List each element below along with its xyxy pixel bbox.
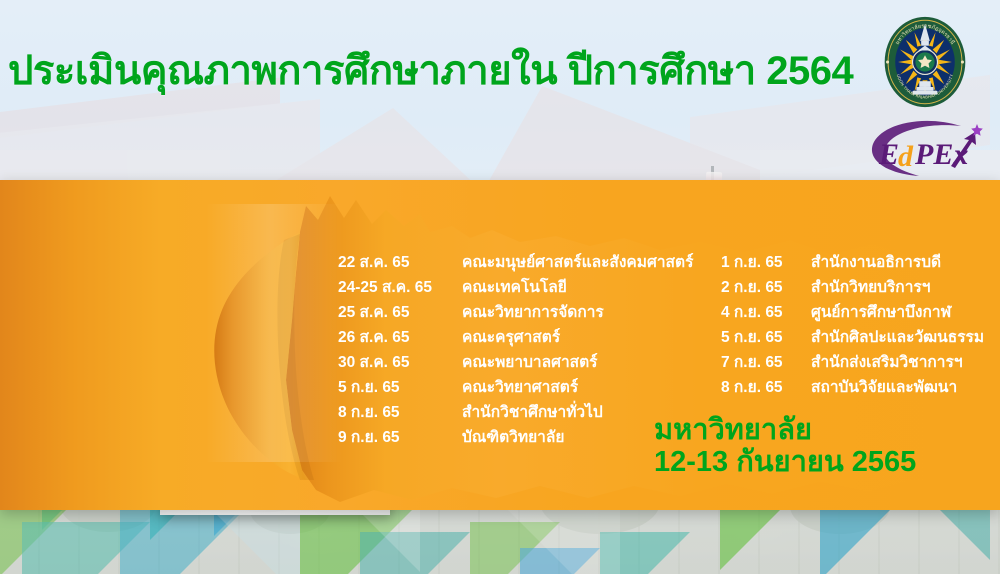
schedule-unit: สำนักวิชาศึกษาทั่วไป [462, 400, 603, 425]
schedule-date: 2 ก.ย. 65 [721, 275, 811, 300]
schedule-date: 25 ส.ค. 65 [338, 300, 462, 325]
schedule-unit: สำนักศิลปะและวัฒนธรรม [811, 325, 984, 350]
schedule-date: 24-25 ส.ค. 65 [338, 275, 462, 300]
event-date-line2: 12-13 กันยายน 2565 [654, 446, 916, 478]
schedule-unit: สำนักงานอธิการบดี [811, 250, 941, 275]
edpex-logo: E d PEx [865, 118, 985, 180]
banner-canvas: ประเมินคุณภาพการศึกษาภายใน ปีการศึกษา 25… [0, 0, 1000, 574]
schedule-unit: คณะครุศาสตร์ [462, 325, 560, 350]
schedule-date: 22 ส.ค. 65 [338, 250, 462, 275]
schedule-row: 1 ก.ย. 65 สำนักงานอธิการบดี [721, 250, 984, 275]
schedule-unit: ศูนย์การศึกษาบึงกาฬ [811, 300, 951, 325]
schedule-date: 9 ก.ย. 65 [338, 425, 462, 450]
page-title: ประเมินคุณภาพการศึกษาภายใน ปีการศึกษา 25… [8, 38, 853, 102]
edpex-text-d: d [898, 140, 914, 173]
schedule-date: 4 ก.ย. 65 [721, 300, 811, 325]
schedule-date: 5 ก.ย. 65 [338, 375, 462, 400]
schedule-unit: คณะวิทยาการจัดการ [462, 300, 604, 325]
schedule-row: 9 ก.ย. 65 บัณฑิตวิทยาลัย [338, 425, 693, 450]
schedule-date: 30 ส.ค. 65 [338, 350, 462, 375]
event-date-line1: มหาวิทยาลัย [654, 414, 812, 446]
schedule-unit: คณะพยาบาลศาสตร์ [462, 350, 598, 375]
edpex-text-pex: PEx [914, 138, 968, 171]
schedule-row: 8 ก.ย. 65 สถาบันวิจัยและพัฒนา [721, 375, 984, 400]
schedule-date: 1 ก.ย. 65 [721, 250, 811, 275]
schedule-unit: คณะเทคโนโลยี [462, 275, 567, 300]
schedule-date: 8 ก.ย. 65 [721, 375, 811, 400]
schedule-date: 8 ก.ย. 65 [338, 400, 462, 425]
schedule-unit: คณะวิทยาศาสตร์ [462, 375, 578, 400]
schedule-row: 5 ก.ย. 65 คณะวิทยาศาสตร์ [338, 375, 693, 400]
schedule-unit: สำนักวิทยบริการฯ [811, 275, 930, 300]
schedule-row: 26 ส.ค. 65 คณะครุศาสตร์ [338, 325, 693, 350]
schedule-right-column: 1 ก.ย. 65 สำนักงานอธิการบดี 2 ก.ย. 65 สำ… [721, 250, 984, 400]
schedule-row: 24-25 ส.ค. 65 คณะเทคโนโลยี [338, 275, 693, 300]
event-date-highlight: มหาวิทยาลัย 12-13 กันยายน 2565 [654, 414, 916, 479]
schedule-row: 22 ส.ค. 65 คณะมนุษย์ศาสตร์และสังคมศาสตร์ [338, 250, 693, 275]
schedule-row: 25 ส.ค. 65 คณะวิทยาการจัดการ [338, 300, 693, 325]
schedule-date: 7 ก.ย. 65 [721, 350, 811, 375]
schedule-date: 26 ส.ค. 65 [338, 325, 462, 350]
schedule-unit: คณะมนุษย์ศาสตร์และสังคมศาสตร์ [462, 250, 693, 275]
schedule-row: 30 ส.ค. 65 คณะพยาบาลศาสตร์ [338, 350, 693, 375]
schedule-row: 5 ก.ย. 65 สำนักศิลปะและวัฒนธรรม [721, 325, 984, 350]
schedule-row: 8 ก.ย. 65 สำนักวิชาศึกษาทั่วไป [338, 400, 693, 425]
university-seal-logo: มหาวิทยาลัยราชภัฏอุดรธานี UDON THANI RAJ… [877, 14, 973, 110]
schedule-left-column: 22 ส.ค. 65 คณะมนุษย์ศาสตร์และสังคมศาสตร์… [338, 250, 693, 450]
schedule-unit: สำนักส่งเสริมวิชาการฯ [811, 350, 963, 375]
schedule-unit: สถาบันวิจัยและพัฒนา [811, 375, 957, 400]
schedule-row: 2 ก.ย. 65 สำนักวิทยบริการฯ [721, 275, 984, 300]
schedule-date: 5 ก.ย. 65 [721, 325, 811, 350]
schedule-row: 7 ก.ย. 65 สำนักส่งเสริมวิชาการฯ [721, 350, 984, 375]
edpex-text-e: E [878, 138, 899, 171]
schedule-row: 4 ก.ย. 65 ศูนย์การศึกษาบึงกาฬ [721, 300, 984, 325]
schedule-unit: บัณฑิตวิทยาลัย [462, 425, 564, 450]
